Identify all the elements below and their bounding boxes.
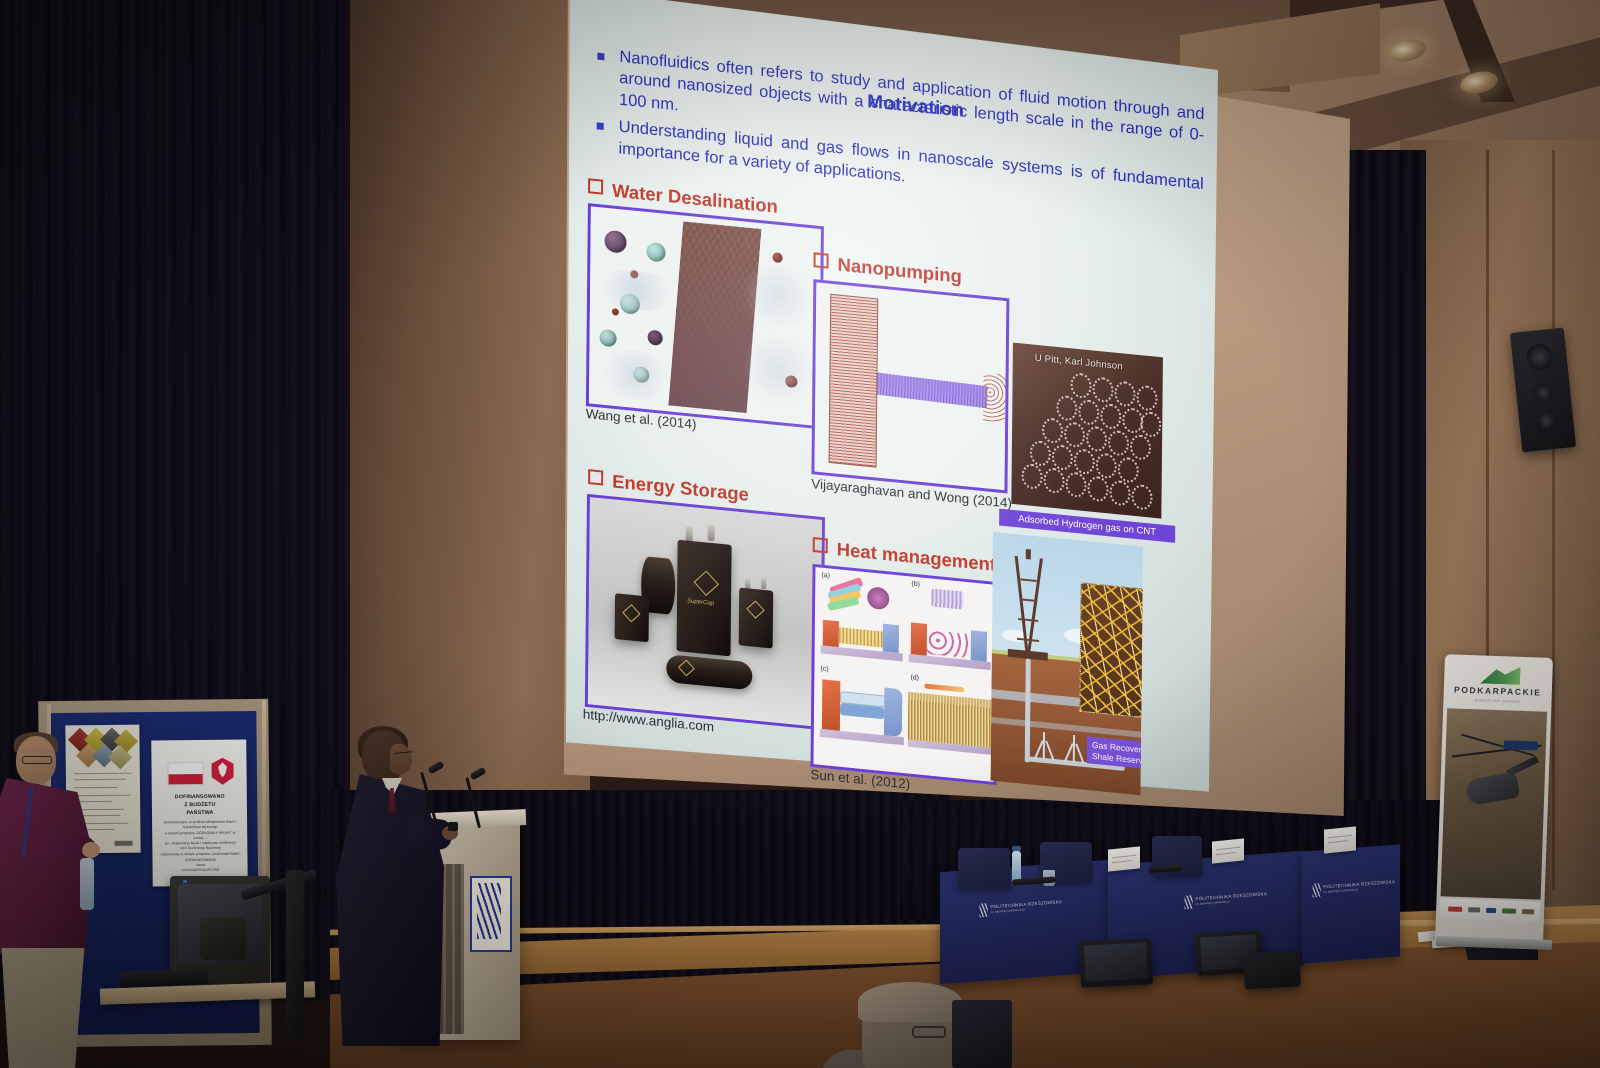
nameplate bbox=[1324, 826, 1356, 853]
helicopter-body-icon bbox=[1465, 772, 1521, 807]
checkbox-square-icon bbox=[588, 469, 603, 485]
wall-seam bbox=[1552, 150, 1555, 890]
poster-body-line: realizowanej w ramach programu „Doskonał… bbox=[160, 851, 240, 857]
eyeglasses-icon bbox=[22, 756, 52, 764]
bullet-square-icon bbox=[597, 123, 604, 131]
nameplate bbox=[1108, 846, 1140, 871]
polish-flag-icon bbox=[167, 762, 203, 785]
floor-monitor-screen bbox=[1084, 942, 1148, 981]
presenter-face bbox=[390, 744, 412, 774]
attendee-trousers bbox=[0, 948, 88, 1068]
university-mark-icon bbox=[477, 883, 501, 939]
poster-state-funding: DOFINANSOWANO Z BUDŻETU PAŃSTWA Dofinans… bbox=[151, 740, 248, 887]
figure-adsorbed-hydrogen-cnt: U Pitt, Karl Johnson bbox=[1011, 343, 1163, 519]
banner-photo-tag bbox=[1504, 740, 1538, 750]
presentation-clicker bbox=[448, 822, 458, 831]
attendee-left bbox=[0, 730, 104, 1068]
checkbox-square-icon bbox=[588, 178, 603, 194]
university-mark-icon bbox=[1313, 883, 1321, 897]
section-label: Nanopumping bbox=[837, 254, 962, 287]
drilling-rig-icon bbox=[1016, 556, 1041, 658]
poster-headline: DOFINANSOWANO Z BUDŻETU PAŃSTWA bbox=[160, 794, 240, 818]
figure-nanopumping bbox=[811, 279, 1009, 493]
poster-headline-line-3: PAŃSTWA bbox=[160, 809, 240, 818]
nameplate bbox=[1212, 838, 1244, 863]
bullet-square-icon bbox=[597, 53, 604, 61]
subpanel-label: (c) bbox=[820, 665, 828, 673]
video-camera bbox=[200, 918, 246, 960]
equipment-pole bbox=[286, 870, 304, 1040]
power-led-icon bbox=[183, 880, 187, 883]
presentation-slide: Motivation Nanofluidics often refers to … bbox=[560, 0, 1220, 874]
checkbox-square-icon bbox=[814, 252, 829, 268]
figure-water-desalination bbox=[586, 203, 824, 429]
university-mark-icon bbox=[980, 903, 988, 917]
foreground-equipment bbox=[952, 1000, 1012, 1068]
rollup-banner: PODKARPACKIE przestrzeń otwarta bbox=[1435, 654, 1553, 946]
conference-room-photo: Motivation Nanofluidics often refers to … bbox=[0, 0, 1600, 1068]
cnt-network-inset bbox=[1079, 582, 1143, 722]
podium-logo bbox=[470, 876, 512, 952]
attendee-hand bbox=[82, 842, 100, 858]
ejected-fluid-icon bbox=[983, 373, 1005, 423]
subpanel-label: (d) bbox=[910, 674, 919, 682]
poster-footer-line: CAŁKOWITA WARTOŚĆ bbox=[161, 868, 241, 874]
figure-shale-gas-recovery: Gas Recovery from Shale Reservoirs bbox=[991, 532, 1144, 796]
audience-hair bbox=[858, 982, 962, 1022]
podkarpackie-logo-icon bbox=[1480, 665, 1521, 684]
attendee-shirt bbox=[0, 778, 92, 954]
presenter bbox=[330, 726, 460, 1046]
poster-body: Dofinansowano ze środków Ministerstwa Na… bbox=[160, 820, 240, 858]
presenter-suit bbox=[336, 774, 444, 1046]
subpanel-label: (b) bbox=[911, 581, 920, 589]
conference-table bbox=[1302, 844, 1400, 963]
fluid-reservoir-icon bbox=[829, 294, 879, 468]
water-bottle bbox=[80, 858, 94, 910]
checkbox-square-icon bbox=[813, 537, 828, 553]
banner-subtitle: przestrzeń otwarta bbox=[1443, 696, 1551, 705]
floor-monitor bbox=[1243, 951, 1301, 990]
subpanel-label: (a) bbox=[821, 572, 830, 580]
figure-heat-management: (a) (b) (c) bbox=[810, 564, 998, 785]
university-mark-icon bbox=[1185, 895, 1193, 909]
banner-footer-logos bbox=[1440, 898, 1541, 921]
poster-footer: DOFINANSOWANIE kwota CAŁKOWITA WARTOŚĆ bbox=[160, 858, 240, 874]
chair bbox=[958, 848, 1010, 888]
cnt-image-title: U Pitt, Karl Johnson bbox=[1035, 353, 1123, 373]
banner-photo-helicopter bbox=[1441, 708, 1548, 899]
eyeglasses-icon bbox=[912, 1026, 946, 1038]
figure-energy-storage: SuperCap bbox=[585, 494, 825, 730]
